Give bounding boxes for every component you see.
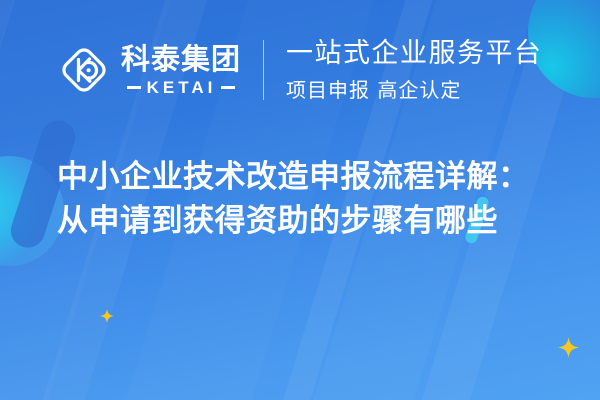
headline-block: 中小企业技术改造申报流程详解： 从申请到获得资助的步骤有哪些: [57, 155, 557, 243]
sparkle-large-right-icon: [558, 337, 579, 358]
ketai-diamond-kd-monogram-icon: [58, 44, 110, 96]
wordmark-dash-right-icon: [221, 86, 235, 89]
brand-name-cn: 科泰集团: [121, 45, 241, 74]
slogan-secondary: 项目申报 高企认定: [286, 79, 543, 101]
sparkle-small-left-icon: [100, 309, 114, 323]
headline-line-1: 中小企业技术改造申报流程详解：: [57, 155, 557, 199]
brand-wordmark: 科泰集团 KETAI: [121, 45, 241, 96]
headline-line-2: 从申请到获得资助的步骤有哪些: [57, 199, 557, 243]
slogan-block: 一站式企业服务平台 项目申报 高企认定: [286, 39, 543, 100]
wordmark-dash-left-icon: [127, 86, 141, 89]
promo-banner: 科泰集团 KETAI 一站式企业服务平台 项目申报 高企认定 中小企业技术改造申…: [0, 0, 600, 400]
brand-name-en: KETAI: [147, 79, 217, 96]
header-vertical-divider: [263, 40, 264, 100]
brand-logo[interactable]: 科泰集团 KETAI: [58, 44, 241, 96]
slogan-primary: 一站式企业服务平台: [286, 39, 543, 69]
banner-header: 科泰集团 KETAI 一站式企业服务平台 项目申报 高企认定: [0, 0, 600, 140]
brand-name-en-row: KETAI: [121, 79, 241, 96]
cyan-circle-left: [0, 156, 64, 266]
